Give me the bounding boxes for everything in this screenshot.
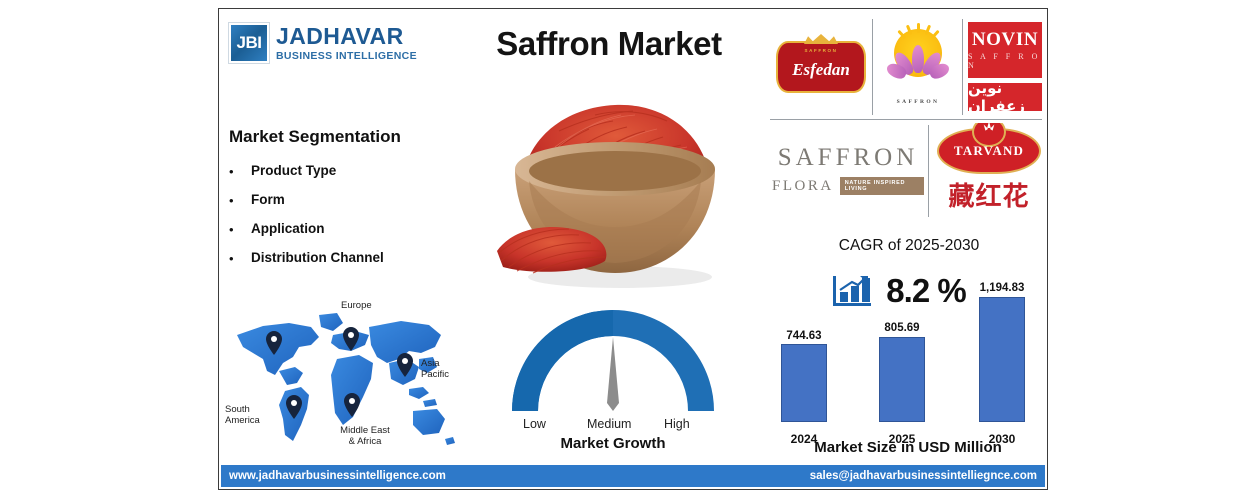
market-growth-gauge: Low Medium High Market Growth [507,307,719,457]
market-size-bar-chart: 744.63 2024 805.69 2025 1,194.83 2030 Ma… [767,287,1049,452]
bar-chart-caption: Market Size in USD Million [767,439,1049,456]
logo-divider-vertical-3 [928,125,929,217]
esfedan-badge-shape: SAFFRON Esfedan [776,41,866,93]
cagr-title: CAGR of 2025-2030 [779,237,1039,255]
company-logo: JBI JADHAVAR BUSINESS INTELLIGENCE [229,23,417,63]
bullet-icon: • [229,221,251,236]
jbi-monogram-icon: JBI [229,23,269,63]
logo-tarvand: TARVAND 藏红花 [934,123,1044,217]
bar-value-2030: 1,194.83 [979,282,1025,294]
segmentation-item-label: Form [251,192,285,207]
flora-wordmark: SAFFRON [778,145,919,170]
gauge-caption: Market Growth [507,435,719,452]
novin-bottom-box: نوین زعفران [968,83,1042,111]
gauge-tick-medium: Medium [587,417,631,431]
gauge-tick-high: High [664,417,690,431]
esfedan-wordmark: Esfedan [792,60,850,80]
map-label-europe: Europe [341,301,372,312]
logo-novin-saffron: NOVIN S A F F R O N نوین زعفران [966,17,1044,115]
saffron-flower-label: SAFFRON [897,99,940,105]
bullet-icon: • [229,163,251,178]
bar-rect-2030 [979,297,1025,422]
brand-name: JADHAVAR [276,25,417,48]
screenshot-canvas: JBI JADHAVAR BUSINESS INTELLIGENCE Saffr… [0,0,1256,498]
segmentation-item-label: Product Type [251,163,336,178]
logo-saffron-flora: SAFFRON FLORA NATURE INSPIRED LIVING [772,127,924,213]
segmentation-item-label: Application [251,221,325,236]
novin-top-box: NOVIN S A F F R O N [968,22,1042,78]
logo-esfedan: SAFFRON Esfedan [772,21,870,113]
tarvand-chinese-text: 藏红花 [948,176,1029,213]
tarvand-flower-icon [980,123,998,136]
world-map-regions: Europe Asia Pacific South America Middle… [223,301,459,459]
logo-divider-vertical-1 [872,19,873,115]
map-label-middle-east-africa: Middle East & Africa [323,426,407,448]
segmentation-item: • Distribution Channel [229,250,459,265]
client-logo-grid: SAFFRON Esfedan [766,9,1049,221]
saffron-flower-icon [886,29,950,87]
bar-rect-2024 [781,344,827,422]
flora-subtitle: FLORA [772,178,834,195]
segmentation-item-label: Distribution Channel [251,250,384,265]
footer-website[interactable]: www.jadhavarbusinessintelligence.com [229,470,446,482]
novin-subtitle: S A F F R O N [968,52,1042,70]
novin-arabic-text: نوین زعفران [968,79,1042,115]
bullet-icon: • [229,192,251,207]
bar-rect-2025 [879,337,925,422]
segmentation-title: Market Segmentation [229,127,459,147]
logo-saffron-flower: SAFFRON [876,17,960,117]
logo-divider-vertical-2 [962,19,963,115]
footer-bar: www.jadhavarbusinessintelligence.com sal… [221,465,1045,487]
gauge-icon [507,307,719,419]
page-title: Saffron Market [459,25,759,63]
map-label-asia-pacific: Asia Pacific [421,359,449,381]
footer-email[interactable]: sales@jadhavarbusinessintelliegnce.com [810,470,1037,482]
bar-value-2024: 744.63 [781,330,827,342]
jbi-monogram-text: JBI [237,33,262,53]
novin-wordmark: NOVIN [972,30,1038,49]
brand-tagline: BUSINESS INTELLIGENCE [276,51,417,62]
bullet-icon: • [229,250,251,265]
tarvand-wordmark: TARVAND [954,143,1024,159]
esfedan-top-text: SAFFRON [778,48,864,53]
gauge-tick-low: Low [523,417,546,431]
segmentation-item: • Product Type [229,163,459,178]
segmentation-item: • Form [229,192,459,207]
logo-divider-horizontal [770,119,1042,120]
segmentation-item: • Application [229,221,459,236]
map-label-south-america: South America [225,405,260,427]
infographic-frame: JBI JADHAVAR BUSINESS INTELLIGENCE Saffr… [218,8,1048,490]
market-segmentation-section: Market Segmentation • Product Type • For… [229,127,459,279]
flora-tagline-pill: NATURE INSPIRED LIVING [840,177,924,195]
bar-value-2025: 805.69 [879,322,925,334]
product-image-saffron-bowl [455,71,765,306]
tarvand-badge-shape: TARVAND [937,128,1041,174]
